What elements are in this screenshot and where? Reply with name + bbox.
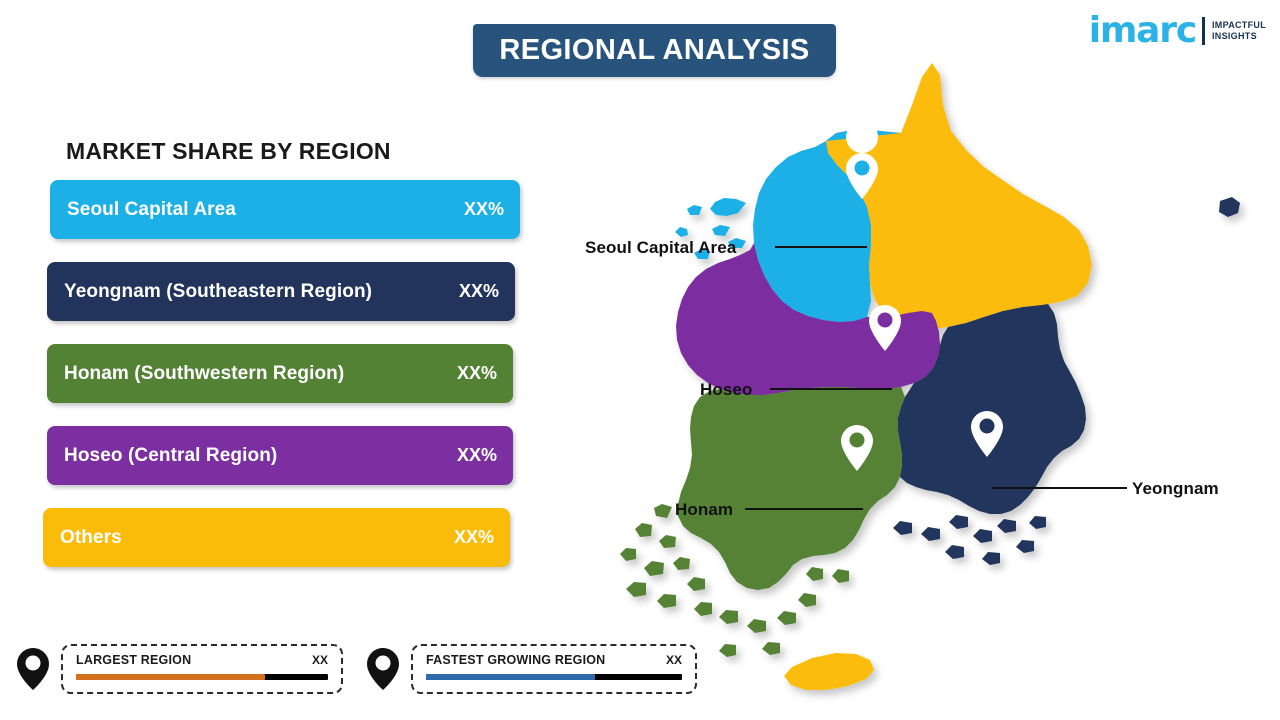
legend-value: XX xyxy=(666,653,682,667)
region-name: Honam (Southwestern Region) xyxy=(64,363,344,385)
legend-top-row: FASTEST GROWING REGION XX xyxy=(426,653,682,667)
imarc-logo: imarc IMPACTFUL INSIGHTS xyxy=(1089,8,1266,54)
legend-largest-region: LARGEST REGION XX xyxy=(16,638,343,700)
region-share-value: XX% xyxy=(457,445,497,466)
legend-card: FASTEST GROWING REGION XX xyxy=(411,644,697,694)
region-share-value: XX% xyxy=(457,363,497,384)
region-share-value: XX% xyxy=(454,527,494,548)
region-name: Seoul Capital Area xyxy=(67,199,236,221)
map-leader-hoseo xyxy=(770,388,892,390)
region-share-value: XX% xyxy=(464,199,504,220)
map-region-honam[interactable] xyxy=(678,387,905,590)
map-leader-honam xyxy=(745,508,863,510)
map-pin-icon xyxy=(16,647,50,691)
region-share-row[interactable]: Honam (Southwestern Region)XX% xyxy=(47,344,513,403)
map-label-seoul: Seoul Capital Area xyxy=(585,238,736,258)
region-share-row[interactable]: Hoseo (Central Region)XX% xyxy=(47,426,513,485)
legend-top-row: LARGEST REGION XX xyxy=(76,653,328,667)
map-landmass xyxy=(620,63,1240,690)
logo-tagline: IMPACTFUL INSIGHTS xyxy=(1212,20,1266,42)
region-share-list: Seoul Capital AreaXX%Yeongnam (Southeast… xyxy=(0,180,540,590)
region-share-row[interactable]: Yeongnam (Southeastern Region)XX% xyxy=(47,262,515,321)
legend-value: XX xyxy=(312,653,328,667)
map-leader-yeongnam xyxy=(992,487,1127,489)
legend-label: FASTEST GROWING REGION xyxy=(426,653,605,667)
logo-tagline-line2: INSIGHTS xyxy=(1212,31,1266,42)
legend-fastest-growing-region: FASTEST GROWING REGION XX xyxy=(366,638,697,700)
korea-region-map: Seoul Capital Area Hoseo Honam Yeongnam xyxy=(560,55,1280,715)
map-label-hoseo: Hoseo xyxy=(700,380,752,400)
legend-progress-track xyxy=(76,674,328,680)
map-svg xyxy=(560,55,1280,715)
market-share-heading: MARKET SHARE BY REGION xyxy=(66,138,391,165)
region-name: Others xyxy=(60,527,122,549)
map-island-ulleungdo[interactable] xyxy=(1219,197,1240,217)
legend-card: LARGEST REGION XX xyxy=(61,644,343,694)
map-label-honam: Honam xyxy=(675,500,733,520)
legend-progress-fill xyxy=(76,674,265,680)
region-name: Yeongnam (Southeastern Region) xyxy=(64,281,372,303)
region-share-row[interactable]: OthersXX% xyxy=(43,508,510,567)
logo-tagline-line1: IMPACTFUL xyxy=(1212,20,1266,31)
map-island-jeju[interactable] xyxy=(784,653,874,690)
logo-divider xyxy=(1202,17,1205,45)
legend-progress-fill xyxy=(426,674,595,680)
region-share-value: XX% xyxy=(459,281,499,302)
legend-progress-track xyxy=(426,674,682,680)
map-pin-icon xyxy=(366,647,400,691)
infographic-slide: REGIONAL ANALYSIS imarc IMPACTFUL INSIGH… xyxy=(0,0,1280,720)
logo-wordmark: imarc xyxy=(1089,13,1196,49)
legend-label: LARGEST REGION xyxy=(76,653,191,667)
region-share-row[interactable]: Seoul Capital AreaXX% xyxy=(50,180,520,239)
map-label-yeongnam: Yeongnam xyxy=(1132,479,1219,499)
map-islands-yeongnam xyxy=(893,515,1046,565)
map-leader-seoul xyxy=(775,246,867,248)
region-name: Hoseo (Central Region) xyxy=(64,445,277,467)
